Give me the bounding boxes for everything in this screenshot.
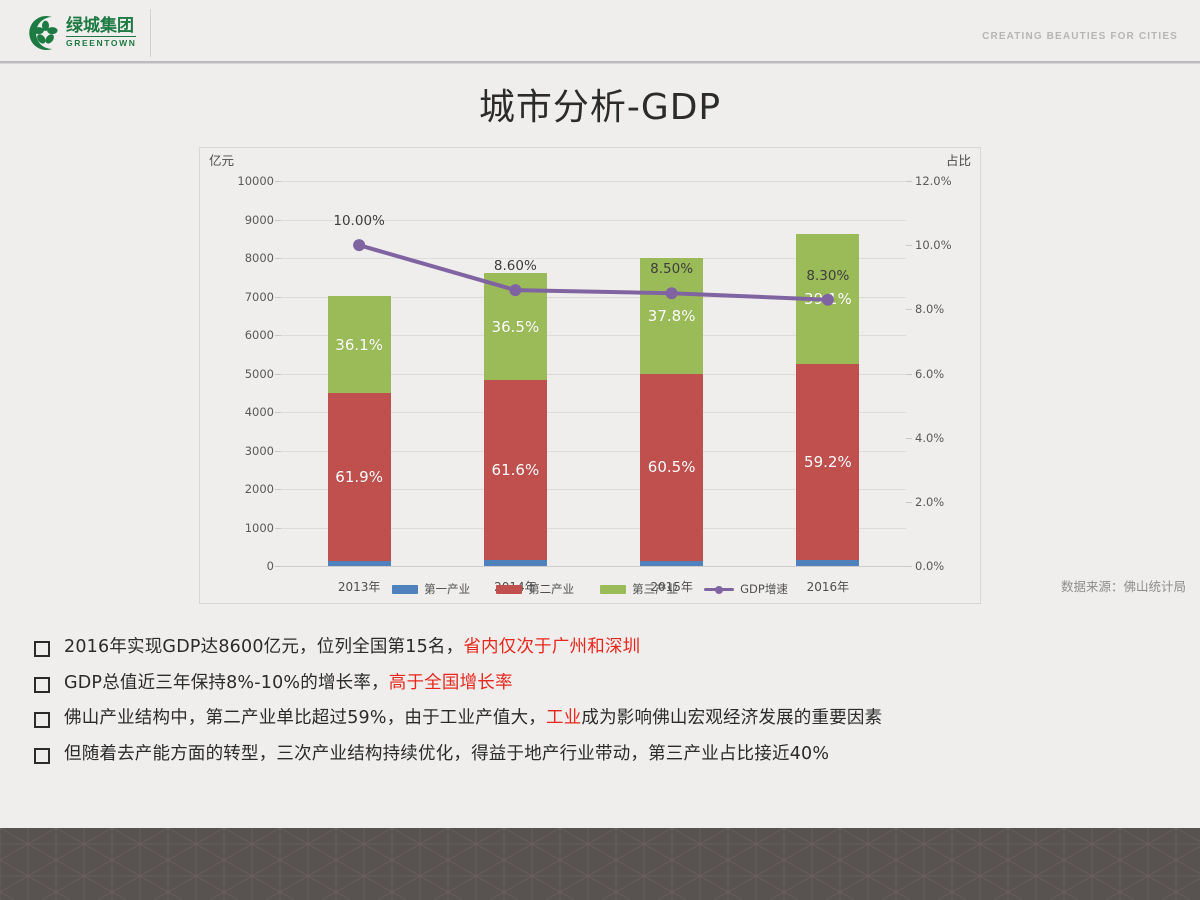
- y-axis-tick-label: 1000: [245, 521, 274, 535]
- y-axis-tick-label: 10000: [237, 174, 274, 188]
- y2-axis-tick-mark: [906, 438, 912, 439]
- legend-label: 第二产业: [528, 581, 574, 597]
- y2-axis-tick-label: 4.0%: [915, 431, 944, 445]
- legend-item[interactable]: GDP增速: [704, 581, 788, 597]
- logo-company-name-cn: 绿城集团: [66, 18, 136, 36]
- y-axis-tick-mark: [275, 566, 281, 567]
- bullet-square-icon: [34, 641, 50, 657]
- y2-axis-tick-mark: [906, 502, 912, 503]
- y2-axis-tick-label: 6.0%: [915, 367, 944, 381]
- legend-item[interactable]: 第二产业: [496, 581, 574, 597]
- legend-label: GDP增速: [740, 581, 788, 597]
- legend-line-icon: [704, 585, 734, 594]
- y-axis-tick-label: 8000: [245, 251, 274, 265]
- bullet-highlight-text: 工业: [546, 708, 581, 728]
- bullet-plain-text: 2016年实现GDP达8600亿元，位列全国第15名，: [64, 637, 463, 657]
- line-data-point[interactable]: [353, 239, 365, 251]
- bullet-text: GDP总值近三年保持8%-10%的增长率，高于全国增长率: [64, 672, 513, 696]
- bullet-plain-text: 但随着去产能方面的转型，三次产业结构持续优化，得益于地产行业带动，第三产业占比接…: [64, 744, 829, 764]
- bullet-square-icon: [34, 748, 50, 764]
- bullet-plain-text: 成为影响佛山宏观经济发展的重要因素: [581, 708, 882, 728]
- bullet-highlight-text: 省内仅次于广州和深圳: [463, 637, 640, 657]
- legend-label: 第一产业: [424, 581, 470, 597]
- gridline: [281, 566, 906, 567]
- legend-swatch-icon: [600, 585, 626, 594]
- y-axis-title: 亿元: [209, 150, 234, 169]
- y2-axis-tick-label: 12.0%: [915, 174, 952, 188]
- line-data-point[interactable]: [666, 287, 678, 299]
- logo-company-name-en: GREENTOWN: [66, 36, 136, 48]
- growth-line-series: [281, 181, 906, 566]
- line-point-label: 8.30%: [806, 268, 849, 284]
- bullet-text: 但随着去产能方面的转型，三次产业结构持续优化，得益于地产行业带动，第三产业占比接…: [64, 743, 829, 767]
- brand-logo: 绿城集团 GREENTOWN: [22, 9, 151, 57]
- y2-axis-tick-mark: [906, 566, 912, 567]
- y2-axis-tick-label: 10.0%: [915, 238, 952, 252]
- y-axis-tick-label: 9000: [245, 213, 274, 227]
- growth-line-path: [359, 245, 828, 300]
- greentown-logo-icon: [22, 13, 62, 53]
- bullet-item: 2016年实现GDP达8600亿元，位列全国第15名，省内仅次于广州和深圳: [34, 636, 1184, 660]
- y-axis-tick-label: 0: [267, 559, 274, 573]
- chart-source-note: 数据来源：佛山统计局: [1061, 576, 1186, 595]
- legend-item[interactable]: 第三产业: [600, 581, 678, 597]
- page-footer: [0, 828, 1200, 900]
- line-data-point[interactable]: [822, 294, 834, 306]
- footer-pattern-icon: [0, 828, 1200, 900]
- y2-axis-tick-label: 0.0%: [915, 559, 944, 573]
- y2-axis-tick-mark: [906, 309, 912, 310]
- bullet-text: 佛山产业结构中，第二产业单比超过59%，由于工业产值大，工业成为影响佛山宏观经济…: [64, 707, 882, 731]
- y-axis-tick-label: 5000: [245, 367, 274, 381]
- bullet-plain-text: GDP总值近三年保持8%-10%的增长率，: [64, 673, 389, 693]
- bullet-square-icon: [34, 677, 50, 693]
- line-data-point[interactable]: [509, 284, 521, 296]
- bullet-square-icon: [34, 712, 50, 728]
- bullet-highlight-text: 高于全国增长率: [389, 673, 513, 693]
- bullet-item: 佛山产业结构中，第二产业单比超过59%，由于工业产值大，工业成为影响佛山宏观经济…: [34, 707, 1184, 731]
- y-axis-tick-label: 2000: [245, 482, 274, 496]
- header-tagline: CREATING BEAUTIES FOR CITIES: [982, 31, 1178, 42]
- bullet-item: 但随着去产能方面的转型，三次产业结构持续优化，得益于地产行业带动，第三产业占比接…: [34, 743, 1184, 767]
- legend-swatch-icon: [496, 585, 522, 594]
- line-point-label: 8.60%: [494, 258, 537, 274]
- y-axis-tick-label: 4000: [245, 405, 274, 419]
- legend-swatch-icon: [392, 585, 418, 594]
- y-axis-tick-label: 7000: [245, 290, 274, 304]
- y2-axis-tick-mark: [906, 374, 912, 375]
- gdp-chart-panel: 亿元 占比 1000090008000700060005000400030002…: [199, 147, 981, 604]
- y2-axis-tick-mark: [906, 245, 912, 246]
- bullet-list: 2016年实现GDP达8600亿元，位列全国第15名，省内仅次于广州和深圳GDP…: [34, 636, 1184, 779]
- legend-label: 第三产业: [632, 581, 678, 597]
- y2-axis-tick-label: 8.0%: [915, 302, 944, 316]
- legend-item[interactable]: 第一产业: [392, 581, 470, 597]
- bullet-plain-text: 佛山产业结构中，第二产业单比超过59%，由于工业产值大，: [64, 708, 546, 728]
- y2-axis-tick-mark: [906, 181, 912, 182]
- chart-legend: 第一产业第二产业第三产业GDP增速: [200, 581, 980, 597]
- bullet-item: GDP总值近三年保持8%-10%的增长率，高于全国增长率: [34, 672, 1184, 696]
- chart-plot-area: 1000090008000700060005000400030002000100…: [281, 181, 906, 566]
- page-title: 城市分析-GDP: [0, 78, 1200, 130]
- y-axis-tick-label: 6000: [245, 328, 274, 342]
- line-point-label: 10.00%: [333, 213, 384, 229]
- y2-axis-title: 占比: [946, 150, 971, 169]
- y2-axis-tick-label: 2.0%: [915, 495, 944, 509]
- line-point-label: 8.50%: [650, 261, 693, 277]
- bullet-text: 2016年实现GDP达8600亿元，位列全国第15名，省内仅次于广州和深圳: [64, 636, 640, 660]
- page-header: 绿城集团 GREENTOWN CREATING BEAUTIES FOR CIT…: [0, 0, 1200, 62]
- header-divider: [0, 61, 1200, 64]
- y-axis-tick-label: 3000: [245, 444, 274, 458]
